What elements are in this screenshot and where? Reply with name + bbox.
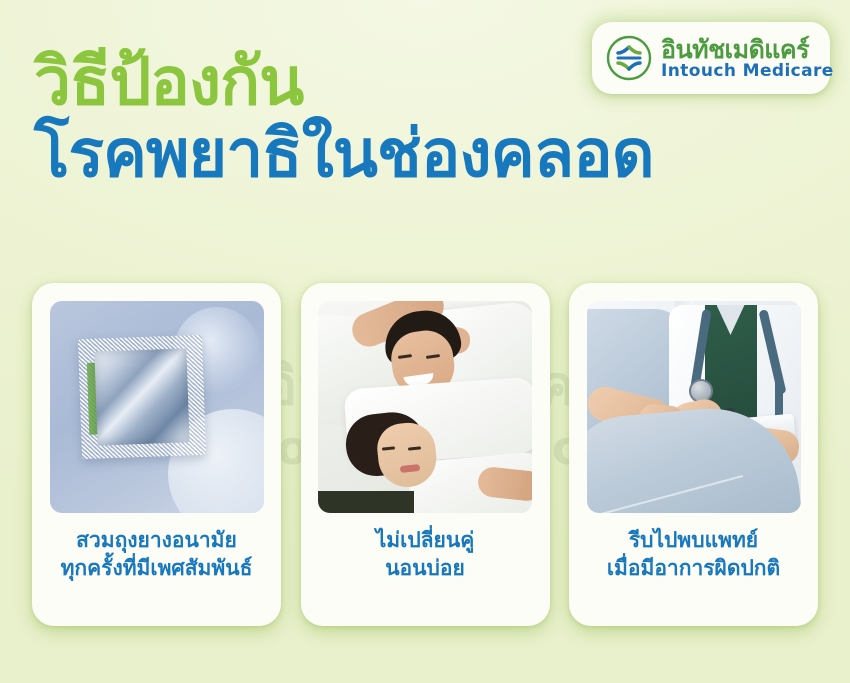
bed-headboard bbox=[318, 491, 414, 513]
wrapper-foil bbox=[94, 348, 189, 445]
tip-card-1-caption: สวมถุงยางอนามัย ทุกครั้งที่มีเพศสัมพันธ์ bbox=[61, 527, 253, 582]
tip-card-3-caption-line-2: เมื่อมีอาการผิดปกติ bbox=[607, 555, 780, 583]
tip-card-2[interactable]: ไม่เปลี่ยนคู่ นอนบ่อย bbox=[301, 283, 550, 626]
infographic-poster: อินทัชเมดิแคร์ Intouch Medicare อินทัชเม… bbox=[0, 0, 850, 683]
doctor-with-patient-photo bbox=[587, 301, 801, 513]
prevention-tip-cards: สวมถุงยางอนามัย ทุกครั้งที่มีเพศสัมพันธ์ bbox=[32, 283, 818, 628]
tip-card-2-caption-line-2: นอนบ่อย bbox=[376, 555, 475, 583]
tip-card-3-caption: รีบไปพบแพทย์ เมื่อมีอาการผิดปกติ bbox=[607, 527, 780, 582]
brand-name-en: Intouch Medicare bbox=[661, 63, 834, 80]
title-line-1: วิธีป้องกัน bbox=[34, 48, 594, 115]
couple-in-bed-photo bbox=[318, 301, 532, 513]
tip-card-2-caption-line-1: ไม่เปลี่ยนคู่ bbox=[376, 528, 475, 552]
title-line-2: โรคพยาธิในช่องคลอด bbox=[34, 119, 594, 188]
intouch-circle-figure-icon bbox=[605, 34, 653, 82]
tip-card-3[interactable]: รีบไปพบแพทย์ เมื่อมีอาการผิดปกติ bbox=[569, 283, 818, 626]
tip-card-1-caption-line-1: สวมถุงยางอนามัย bbox=[76, 528, 237, 552]
tip-card-3-caption-line-1: รีบไปพบแพทย์ bbox=[629, 528, 758, 552]
page-title: วิธีป้องกัน โรคพยาธิในช่องคลอด bbox=[34, 48, 594, 189]
condom-packet-photo bbox=[50, 301, 264, 513]
tip-card-1[interactable]: สวมถุงยางอนามัย ทุกครั้งที่มีเพศสัมพันธ์ bbox=[32, 283, 281, 626]
jeans-seam bbox=[587, 475, 743, 513]
brand-wordmark: อินทัชเมดิแคร์ Intouch Medicare bbox=[661, 37, 834, 80]
brand-logo-badge: อินทัชเมดิแคร์ Intouch Medicare bbox=[592, 22, 830, 94]
condom-wrapper bbox=[77, 335, 205, 459]
brand-name-th: อินทัชเมดิแคร์ bbox=[661, 37, 834, 62]
tip-card-2-caption: ไม่เปลี่ยนคู่ นอนบ่อย bbox=[376, 527, 475, 582]
tip-card-1-caption-line-2: ทุกครั้งที่มีเพศสัมพันธ์ bbox=[61, 555, 253, 583]
